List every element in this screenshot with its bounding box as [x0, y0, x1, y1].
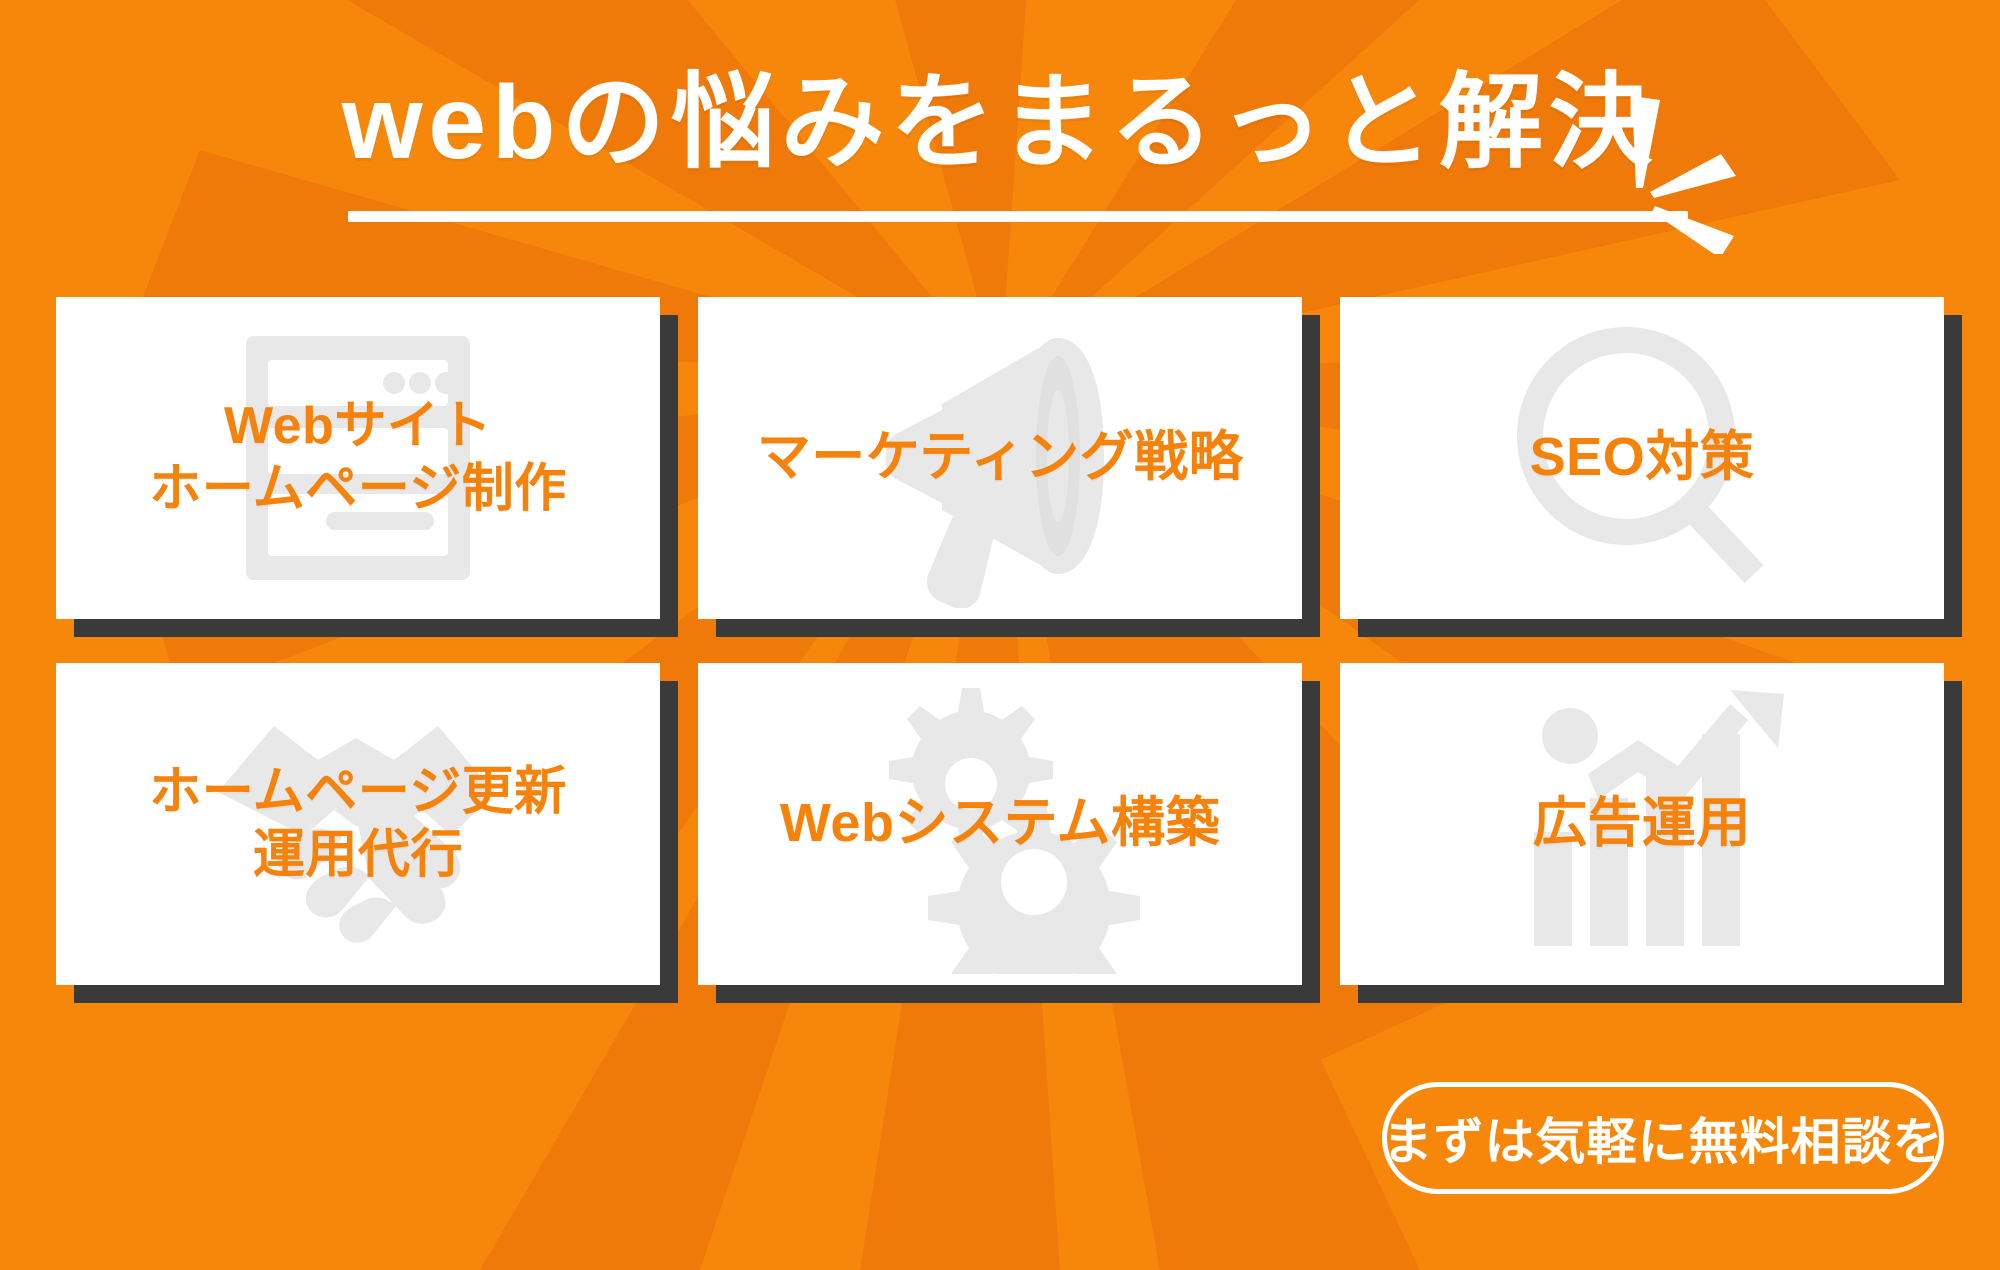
card-face: SEO対策 [1340, 297, 1944, 619]
card-label: Webシステム構築 [766, 791, 1234, 857]
service-card-grid: Webサイト ホームページ制作 マーケティング戦略 [56, 297, 1944, 985]
card-face: Webサイト ホームページ制作 [56, 297, 660, 619]
headline-underline [348, 211, 1688, 222]
headline-block: webの悩みをまるっと解決 [0, 62, 2000, 242]
card-face: ホームページ更新 運用代行 [56, 663, 660, 985]
card-label: マーケティング戦略 [743, 425, 1258, 491]
service-card-web-site-production[interactable]: Webサイト ホームページ制作 [56, 297, 660, 619]
promo-banner: webの悩みをまるっと解決 W [0, 0, 2000, 1270]
card-label: 広告運用 [1519, 791, 1765, 857]
card-label: ホームページ更新 運用代行 [135, 761, 581, 888]
page-title: webの悩みをまるっと解決 [0, 62, 2000, 185]
service-card-marketing-strategy[interactable]: マーケティング戦略 [698, 297, 1302, 619]
card-face: マーケティング戦略 [698, 297, 1302, 619]
card-face: Webシステム構築 [698, 663, 1302, 985]
card-face: 広告運用 [1340, 663, 1944, 985]
service-card-seo-measures[interactable]: SEO対策 [1340, 297, 1944, 619]
service-card-homepage-update-operation[interactable]: ホームページ更新 運用代行 [56, 663, 660, 985]
service-card-web-system-development[interactable]: Webシステム構築 [698, 663, 1302, 985]
free-consultation-cta-button[interactable]: まずは気軽に無料相談を [1382, 1082, 1944, 1194]
cta-label: まずは気軽に無料相談を [1383, 1102, 1944, 1174]
service-card-advertising-operation[interactable]: 広告運用 [1340, 663, 1944, 985]
card-label: Webサイト ホームページ制作 [135, 395, 581, 522]
card-label: SEO対策 [1516, 425, 1769, 491]
